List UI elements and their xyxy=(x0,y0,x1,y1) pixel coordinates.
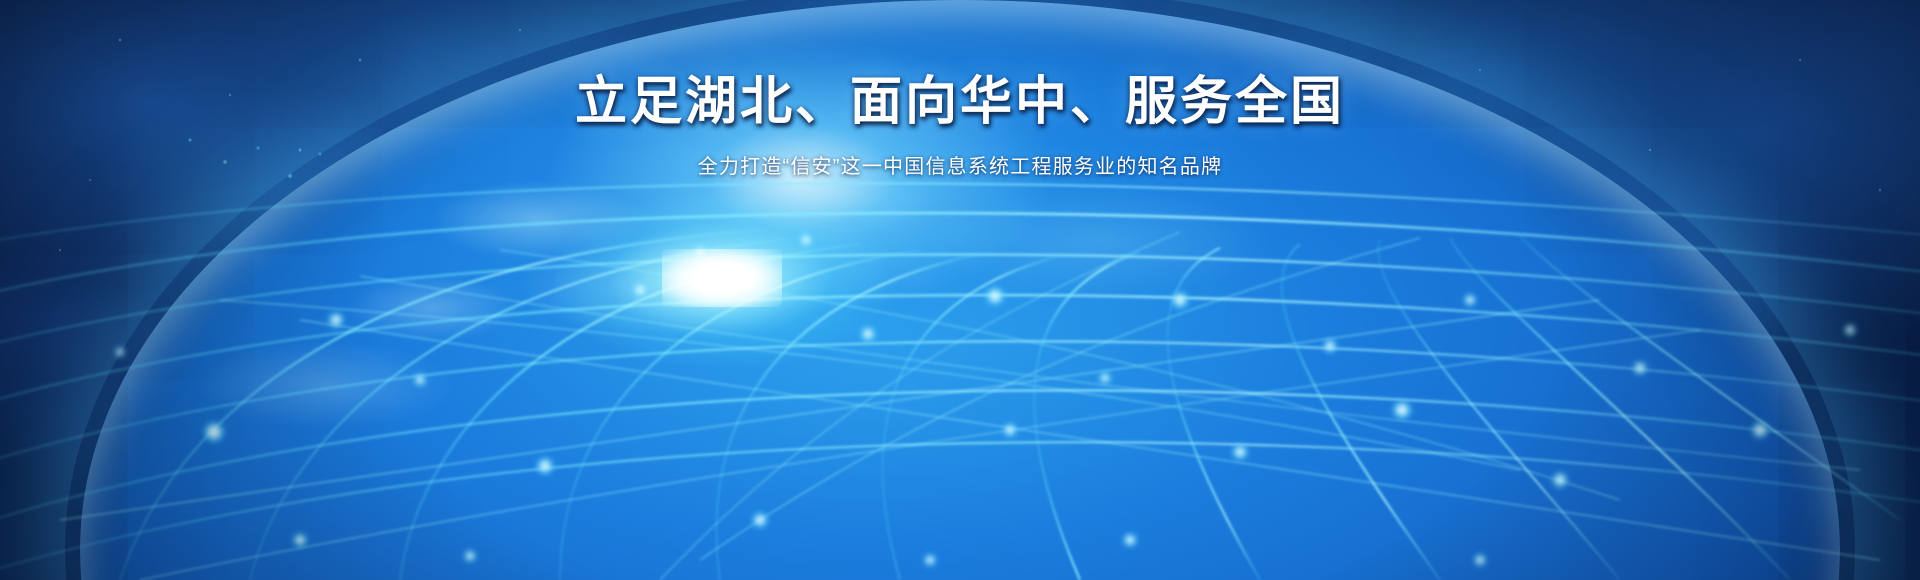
hero-text-block: 立足湖北、面向华中、服务全国 全力打造“信安”这一中国信息系统工程服务业的知名品… xyxy=(0,74,1920,179)
page-subtitle: 全力打造“信安”这一中国信息系统工程服务业的知名品牌 xyxy=(0,150,1920,179)
hero-banner: 立足湖北、面向华中、服务全国 全力打造“信安”这一中国信息系统工程服务业的知名品… xyxy=(0,0,1920,580)
page-title: 立足湖北、面向华中、服务全国 xyxy=(0,74,1920,130)
